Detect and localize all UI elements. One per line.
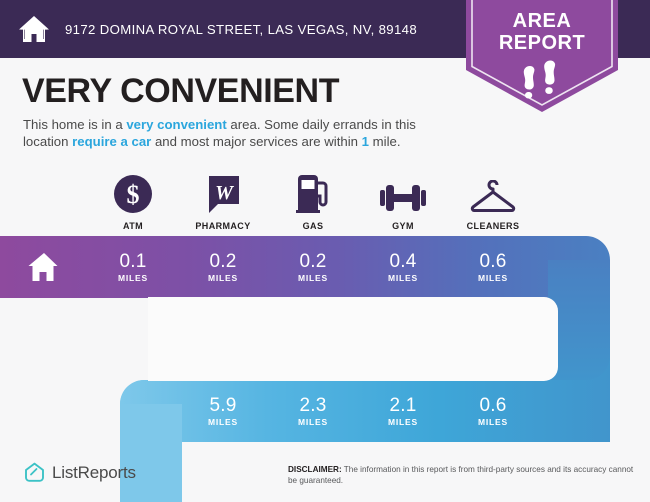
place-gas: GAS <box>268 172 358 231</box>
distance-value: 0.4 <box>389 252 416 272</box>
subtitle-part-3: and most major services are within <box>151 134 361 149</box>
distance-movie-theater: 5.9 MILES <box>178 380 268 442</box>
distance-unit: MILES <box>478 417 508 427</box>
distance-value: 0.1 <box>119 252 146 272</box>
distance-unit: MILES <box>478 273 508 283</box>
ribbon-home-marker <box>0 236 88 298</box>
distance-value: 2.3 <box>299 396 326 416</box>
distance-unit: MILES <box>388 417 418 427</box>
svg-text:W: W <box>215 182 234 204</box>
badge-text: AREA REPORT <box>466 10 618 54</box>
listreports-logo-text: ListReports <box>52 463 136 483</box>
page-title: VERY CONVENIENT <box>22 72 339 111</box>
subtitle-highlight-2: require a car <box>72 134 151 149</box>
area-report-page: 9172 DOMINA ROYAL STREET, LAS VEGAS, NV,… <box>0 0 650 502</box>
subtitle-highlight-1: very convenient <box>126 117 226 132</box>
distance-row-secondary: 5.9 MILES 2.3 MILES 2.1 MILES 0.6 MILES <box>178 380 538 442</box>
distance-cleaners: 0.6 MILES <box>448 236 538 298</box>
listreports-logo: ListReports <box>24 462 136 483</box>
distance-value: 5.9 <box>209 396 236 416</box>
distance-medical: 2.1 MILES <box>358 380 448 442</box>
area-report-badge: AREA REPORT <box>466 0 618 112</box>
badge-line-2: REPORT <box>466 32 618 54</box>
place-gym: GYM <box>358 172 448 231</box>
place-atm: $ ATM <box>88 172 178 231</box>
distance-unit: MILES <box>118 273 148 283</box>
home-icon <box>17 12 51 46</box>
icon-row-primary: $ ATM W PHARMACY <box>88 172 538 231</box>
distance-value: 0.2 <box>209 252 236 272</box>
place-label: GYM <box>392 221 414 231</box>
address-text: 9172 DOMINA ROYAL STREET, LAS VEGAS, NV,… <box>65 22 417 37</box>
dollar-circle-icon: $ <box>113 172 153 214</box>
distance-coffee: 0.6 MILES <box>448 380 538 442</box>
svg-text:$: $ <box>127 180 140 209</box>
distance-unit: MILES <box>298 273 328 283</box>
distance-value: 0.6 <box>479 252 506 272</box>
distance-atm: 0.1 MILES <box>88 236 178 298</box>
dumbbell-icon <box>380 172 426 214</box>
distance-unit: MILES <box>208 273 238 283</box>
subtitle-highlight-3: 1 <box>362 134 369 149</box>
distance-value: 2.1 <box>389 396 416 416</box>
distance-groceries: 2.3 MILES <box>268 380 358 442</box>
distance-unit: MILES <box>298 417 328 427</box>
place-label: ATM <box>123 221 143 231</box>
hanger-icon <box>470 172 516 214</box>
distance-value: 0.2 <box>299 252 326 272</box>
distance-pharmacy: 0.2 MILES <box>178 236 268 298</box>
place-cleaners: CLEANERS <box>448 172 538 231</box>
disclaimer: DISCLAIMER: The information in this repo… <box>288 464 638 486</box>
row2-icon-card <box>148 297 558 381</box>
place-pharmacy: W PHARMACY <box>178 172 268 231</box>
place-label: PHARMACY <box>195 221 250 231</box>
subtitle-part-4: mile. <box>369 134 401 149</box>
subtitle-part-1: This home is in a <box>23 117 126 132</box>
place-label: CLEANERS <box>467 221 520 231</box>
distance-gym: 0.4 MILES <box>358 236 448 298</box>
distance-unit: MILES <box>208 417 238 427</box>
distance-gas: 0.2 MILES <box>268 236 358 298</box>
page-subtitle: This home is in a very convenient area. … <box>23 116 463 150</box>
walgreens-w-icon: W <box>204 172 242 214</box>
listreports-house-icon <box>24 462 45 483</box>
badge-line-1: AREA <box>466 10 618 32</box>
distance-row-primary: 0.1 MILES 0.2 MILES 0.2 MILES 0.4 MILES … <box>88 236 538 298</box>
gas-pump-icon <box>294 172 332 214</box>
distance-unit: MILES <box>388 273 418 283</box>
distance-value: 0.6 <box>479 396 506 416</box>
disclaimer-label: DISCLAIMER: <box>288 465 342 474</box>
place-label: GAS <box>303 221 324 231</box>
